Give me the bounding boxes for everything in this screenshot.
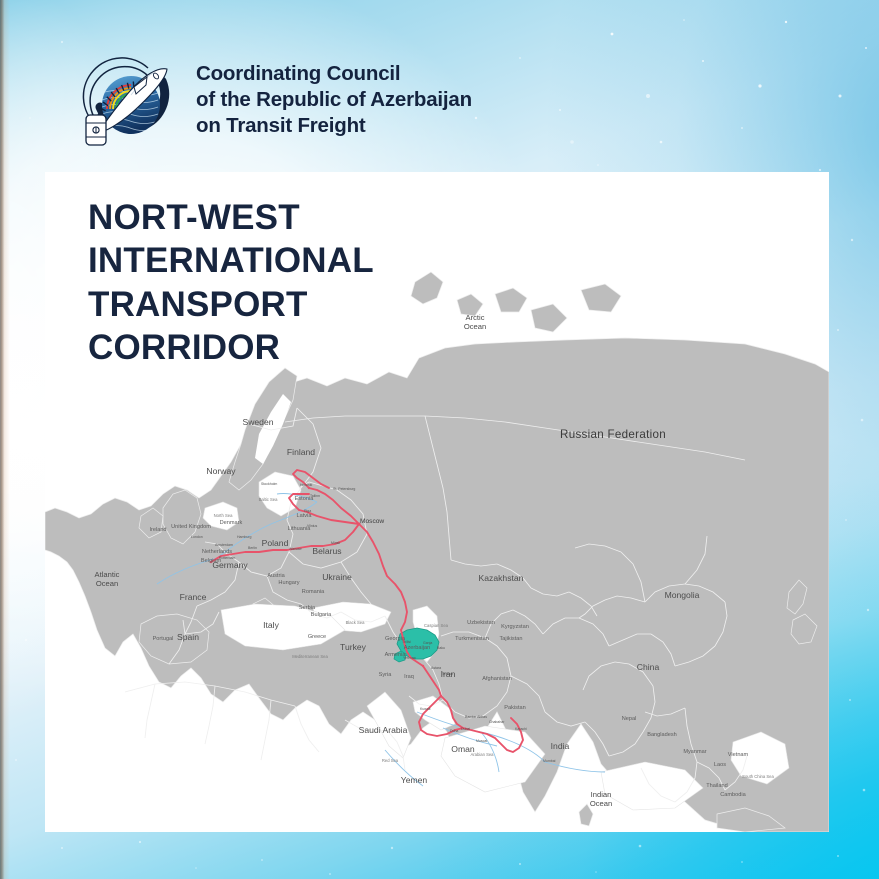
city-label-minor: Minsk: [331, 541, 340, 545]
poster-canvas: Coordinating Council of the Republic of …: [0, 0, 879, 879]
city-label-minor: Helsinki: [300, 483, 312, 487]
country-label-small: Vietnam: [728, 752, 749, 758]
country-label-small: Uzbekistan: [467, 620, 495, 626]
city-label-minor: Rotterdam: [219, 556, 235, 560]
organization-logo-block: Coordinating Council of the Republic of …: [74, 44, 504, 156]
city-label-minor: Berlin: [248, 546, 257, 550]
country-label-small: Tajikistan: [499, 636, 522, 642]
country-label-small: Denmark: [220, 520, 243, 526]
country-label: Belarus: [312, 546, 341, 556]
country-label-small: Bulgaria: [311, 612, 332, 618]
country-label-small: Netherlands: [202, 549, 232, 555]
city-label-minor: Yerevan: [403, 656, 416, 660]
country-label: Mongolia: [665, 590, 700, 600]
country-label: Yemen: [401, 775, 428, 785]
city-label-minor: Chabahar: [489, 720, 505, 724]
city-label-minor: Astara: [431, 666, 441, 670]
country-label-small: Azerbaijan: [404, 645, 430, 651]
sea-label: South China Sea: [742, 774, 774, 779]
city-label-minor: Doha: [450, 729, 458, 733]
city-label-minor: Tallinn: [310, 494, 320, 498]
logo-line-2: of the Republic of Azerbaijan: [196, 87, 472, 113]
country-label-small: Greece: [308, 634, 326, 640]
ocean-label: IndianOcean: [590, 790, 612, 808]
country-label-small: Ireland: [149, 527, 166, 533]
country-label: Finland: [287, 447, 315, 457]
title-line-2: INTERNATIONAL: [88, 239, 508, 282]
country-label: Kazakhstan: [479, 573, 524, 583]
city-label-minor: London: [191, 535, 203, 539]
country-label-small: Bangladesh: [647, 732, 677, 738]
country-label-small: Cambodia: [720, 792, 746, 798]
country-label-large: Russian Federation: [560, 428, 666, 441]
city-label-minor: Karachi: [515, 727, 527, 731]
country-label: Ukraine: [322, 572, 352, 582]
title-line-3: TRANSPORT: [88, 283, 508, 326]
sea-label: Mediterranean Sea: [292, 654, 328, 659]
country-label-small: Austria: [267, 573, 285, 579]
city-label-minor: Tbilisi: [402, 640, 411, 644]
country-label: Saudi Arabia: [359, 725, 408, 735]
city-label-minor: Warsaw: [289, 547, 302, 551]
city-label-minor: St. Petersburg: [333, 487, 355, 491]
country-label-small: Myanmar: [683, 749, 706, 755]
country-label: Sweden: [242, 417, 273, 427]
transit-freight-emblem-icon: [74, 47, 180, 153]
city-label-minor: Amsterdam: [215, 543, 233, 547]
country-label: France: [180, 592, 207, 602]
title-line-4: CORRIDOR: [88, 326, 508, 369]
country-label-small: Pakistan: [504, 705, 525, 711]
country-label: Poland: [262, 538, 289, 548]
city-label-major: Moscow: [360, 518, 384, 525]
country-label: Italy: [263, 620, 279, 630]
logo-line-1: Coordinating Council: [196, 61, 472, 87]
country-label-small: Portugal: [153, 636, 174, 642]
sea-label: Black Sea: [346, 620, 366, 625]
city-label-minor: Hamburg: [237, 535, 251, 539]
country-label: India: [551, 741, 570, 751]
sea-label: North Sea: [214, 513, 234, 518]
city-labels-major-group: Moscow: [360, 518, 384, 525]
country-label-small: Latvia: [297, 513, 313, 519]
country-label-small: Serbia: [299, 605, 316, 611]
organization-name: Coordinating Council of the Republic of …: [196, 61, 472, 140]
country-label-small: Afghanistan: [482, 676, 512, 682]
country-label: Spain: [177, 632, 199, 642]
ocean-label: AtlanticOcean: [95, 570, 120, 588]
sea-label: Baltic Sea: [259, 497, 279, 502]
city-label-minor: Bandar Abbas: [465, 715, 487, 719]
country-label: Turkey: [340, 642, 367, 652]
country-labels-xl-group: Russian Federation: [560, 428, 666, 441]
city-label-minor: Kuwait: [420, 707, 431, 711]
country-label-small: Iraq: [404, 674, 414, 680]
country-label-small: Turkmenistan: [455, 636, 489, 642]
country-label-small: Hungary: [278, 580, 299, 586]
page-title: NORT-WEST INTERNATIONAL TRANSPORT CORRID…: [88, 196, 508, 370]
city-label-minor: Baku: [437, 646, 445, 650]
country-label-small: Romania: [302, 589, 325, 595]
city-label-minor: Riga: [304, 509, 311, 513]
city-label-minor: Dubai: [461, 727, 470, 731]
country-label: China: [637, 662, 660, 672]
city-label-minor: Ganja: [423, 641, 432, 645]
country-label-small: Nepal: [622, 716, 637, 722]
country-label-small: Laos: [714, 762, 726, 768]
city-label-minor: Vilnius: [307, 524, 317, 528]
logo-line-3: on Transit Freight: [196, 113, 472, 139]
country-label-small: Kyrgyzstan: [501, 624, 529, 630]
city-label-minor: Stockholm: [261, 482, 277, 486]
country-label-small: United Kingdom: [171, 524, 211, 530]
country-label-small: Syria: [379, 672, 393, 678]
country-label: Norway: [206, 466, 236, 476]
country-label-small: Thailand: [706, 783, 727, 789]
city-label-minor: Muscat: [476, 739, 487, 743]
background-left-edge-vignette: [0, 0, 10, 879]
sea-label: Arabian Sea: [470, 752, 494, 757]
city-label-minor: Tehran: [442, 672, 453, 676]
sea-label: Red Sea: [382, 758, 399, 763]
city-label-minor: Mumbai: [543, 759, 556, 763]
sea-label: Caspian Sea: [424, 623, 449, 628]
title-line-1: NORT-WEST: [88, 196, 508, 239]
